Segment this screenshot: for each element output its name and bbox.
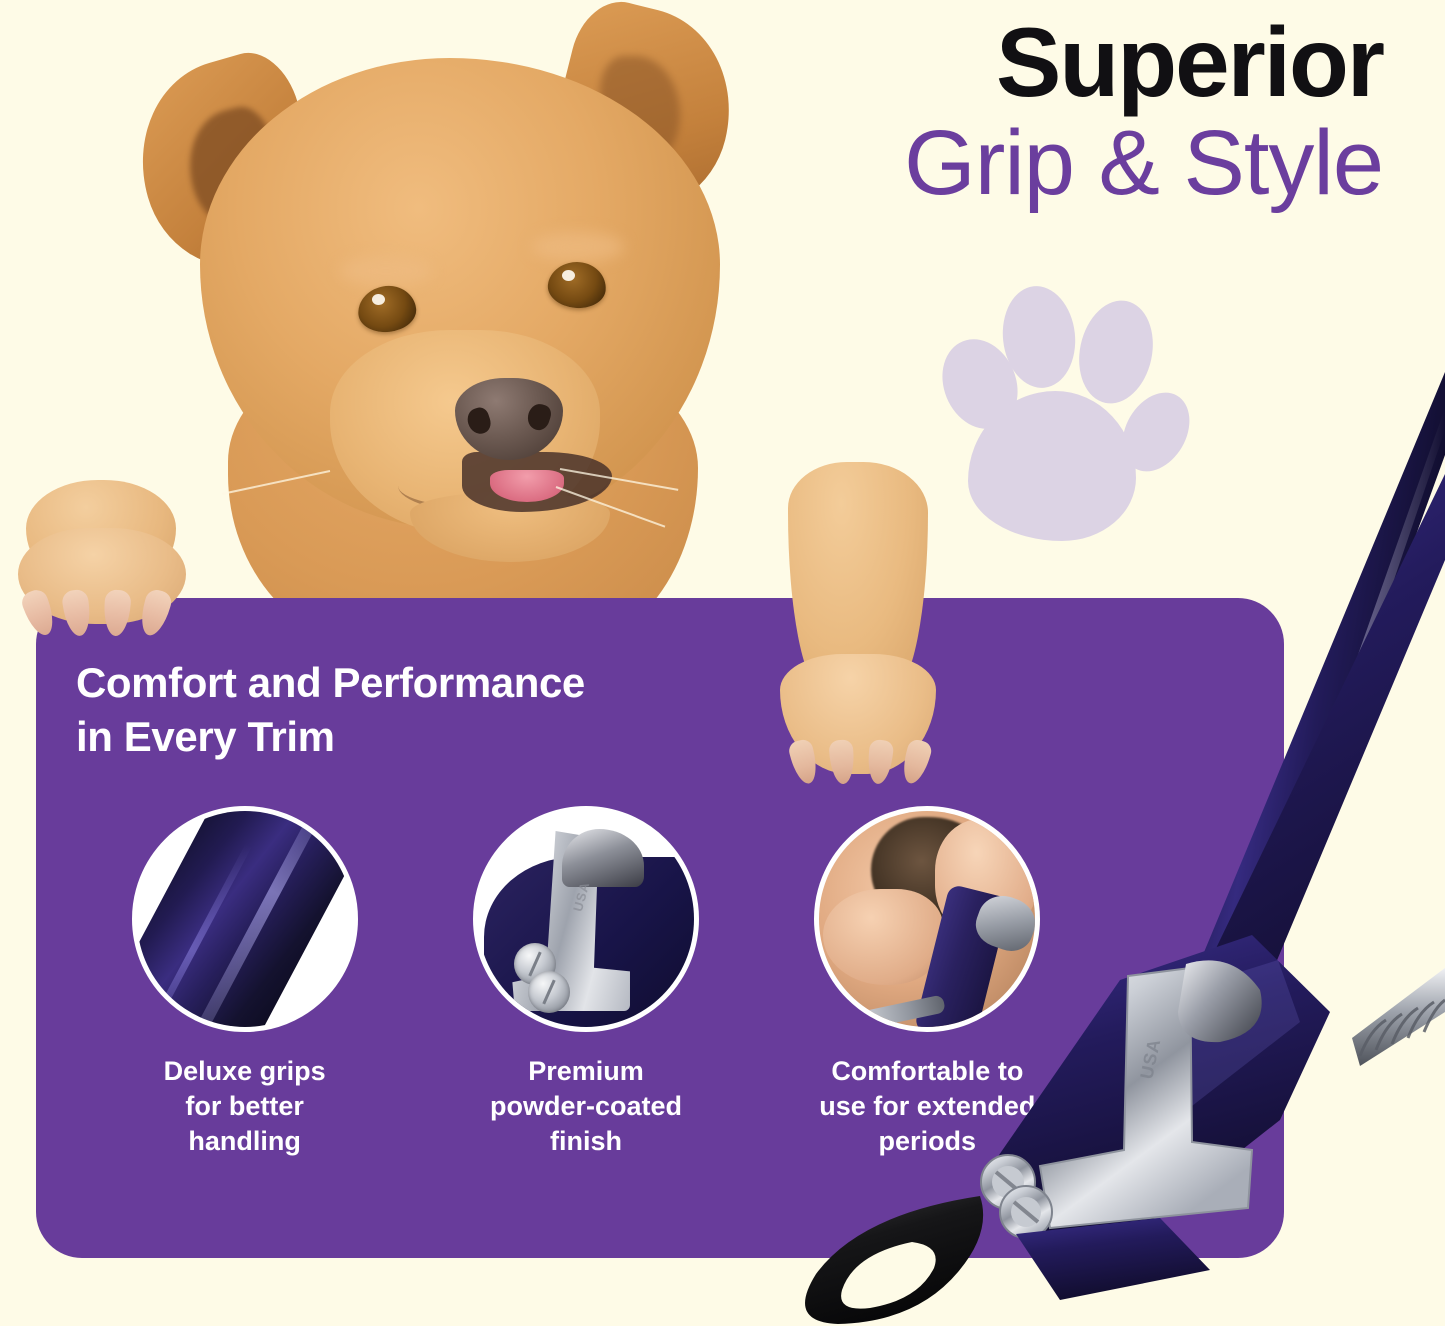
feature-list: Deluxe grips for better handling USA Pre… [106, 806, 1066, 1159]
dog-brow-right [532, 232, 624, 262]
dog-paw-right [770, 462, 950, 782]
dog-claw [102, 589, 131, 637]
dog-claw [828, 739, 855, 785]
blade-screw [528, 971, 570, 1013]
paw-print-icon [940, 286, 1170, 546]
product-marketing-image: Superior Grip & Style Comfort and Perfor… [0, 0, 1445, 1326]
feature-item-extended-use-comfort[interactable]: Comfortable to use for extended periods [789, 806, 1066, 1159]
card-title: Comfort and Performance in Every Trim [76, 656, 585, 764]
dog-eye-highlight-right [562, 270, 575, 281]
bottom-margin [0, 1258, 1445, 1326]
paw-toe [1070, 294, 1162, 411]
feature-item-powder-coated-finish[interactable]: USA Premium powder-coated finish [447, 806, 724, 1159]
feature-image-clipper-handle [132, 806, 358, 1032]
dog-brow-left [340, 256, 432, 286]
feature-caption: Deluxe grips for better handling [164, 1054, 326, 1159]
dog-eye-highlight-left [372, 294, 385, 305]
dog-claw [866, 739, 894, 785]
feature-caption: Comfortable to use for extended periods [819, 1054, 1035, 1159]
clipper-spring [1352, 968, 1445, 1066]
dog-paw-left [8, 480, 190, 630]
feature-item-deluxe-grips[interactable]: Deluxe grips for better handling [106, 806, 383, 1159]
feature-card: Comfort and Performance in Every Trim De… [36, 598, 1284, 1258]
feature-image-clipping-nail [814, 806, 1040, 1032]
headline-line-2: Grip & Style [763, 112, 1383, 215]
headline-line-1: Superior [763, 10, 1383, 116]
headline: Superior Grip & Style [763, 10, 1383, 215]
feature-image-blade-head: USA [473, 806, 699, 1032]
feature-caption: Premium powder-coated finish [490, 1054, 682, 1159]
